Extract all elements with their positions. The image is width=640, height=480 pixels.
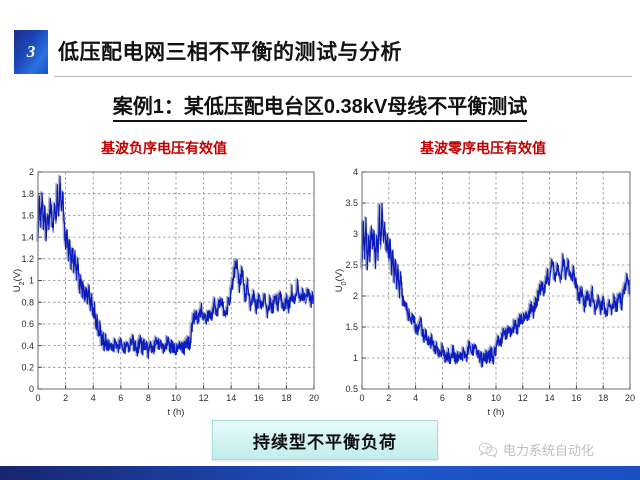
svg-text:8: 8 (467, 393, 472, 403)
svg-text:0: 0 (29, 384, 34, 394)
svg-text:1.8: 1.8 (21, 189, 34, 199)
svg-text:0.2: 0.2 (21, 363, 34, 373)
section-number-text: 3 (27, 42, 36, 62)
chart-title-left: 基波负序电压有效值 (8, 138, 320, 158)
svg-text:U2(V): U2(V) (12, 269, 26, 292)
section-number-badge: 3 (14, 30, 48, 74)
svg-text:0: 0 (359, 393, 364, 403)
svg-text:1.6: 1.6 (21, 211, 34, 221)
chart-negative-sequence: 基波负序电压有效值 0246810121416182000.20.40.60.8… (8, 138, 320, 429)
svg-text:2.5: 2.5 (345, 260, 358, 270)
svg-text:2: 2 (63, 393, 68, 403)
slide-subtitle-text: 案例1：某低压配电台区0.38kV母线不平衡测试 (113, 96, 528, 122)
svg-text:10: 10 (171, 393, 181, 403)
svg-text:1: 1 (29, 276, 34, 286)
svg-text:3.5: 3.5 (345, 198, 358, 208)
page-title: 低压配电网三相不平衡的测试与分析 (58, 36, 402, 66)
svg-text:0.5: 0.5 (345, 384, 358, 394)
svg-text:2: 2 (386, 393, 391, 403)
slide-subtitle: 案例1：某低压配电台区0.38kV母线不平衡测试 (0, 90, 640, 119)
svg-text:1: 1 (353, 353, 358, 363)
svg-text:3: 3 (353, 229, 358, 239)
svg-text:10: 10 (491, 393, 501, 403)
svg-text:2: 2 (29, 167, 34, 177)
watermark-label: 电力系统自动化 (503, 440, 594, 459)
conclusion-callout: 持续型不平衡负荷 (212, 420, 438, 460)
svg-text:1.4: 1.4 (21, 232, 34, 242)
conclusion-text: 持续型不平衡负荷 (253, 428, 397, 453)
svg-text:18: 18 (598, 393, 608, 403)
slide-root: 3 低压配电网三相不平衡的测试与分析 案例1：某低压配电台区0.38kV母线不平… (0, 0, 640, 480)
svg-text:U0(V): U0(V) (334, 269, 348, 292)
svg-text:16: 16 (571, 393, 581, 403)
svg-text:14: 14 (545, 393, 555, 403)
svg-text:2: 2 (353, 291, 358, 301)
chart-svg-right: 024681012141618200.511.522.533.54t (h)U0… (330, 164, 636, 429)
svg-text:14: 14 (226, 393, 236, 403)
chart-title-right: 基波零序电压有效值 (330, 138, 636, 158)
svg-text:1.5: 1.5 (345, 322, 358, 332)
svg-text:0.6: 0.6 (21, 319, 34, 329)
svg-text:1.2: 1.2 (21, 254, 34, 264)
svg-text:8: 8 (146, 393, 151, 403)
svg-text:0.4: 0.4 (21, 341, 34, 351)
svg-text:6: 6 (118, 393, 123, 403)
svg-text:6: 6 (440, 393, 445, 403)
svg-text:0: 0 (35, 393, 40, 403)
svg-text:12: 12 (518, 393, 528, 403)
header-divider (54, 76, 632, 77)
svg-text:4: 4 (91, 393, 96, 403)
svg-text:4: 4 (413, 393, 418, 403)
chart-canvas-right: 024681012141618200.511.522.533.54t (h)U0… (330, 164, 636, 429)
svg-text:18: 18 (281, 393, 291, 403)
footer-watermark: 电力系统自动化 (478, 440, 594, 459)
svg-text:t (h): t (h) (488, 407, 505, 418)
wechat-icon (478, 442, 498, 458)
svg-text:0.8: 0.8 (21, 297, 34, 307)
svg-text:t (h): t (h) (168, 407, 185, 418)
chart-zero-sequence: 基波零序电压有效值 024681012141618200.511.522.533… (330, 138, 636, 429)
chart-svg-left: 0246810121416182000.20.40.60.811.21.41.6… (8, 164, 320, 429)
svg-text:4: 4 (353, 167, 358, 177)
slide-header: 3 低压配电网三相不平衡的测试与分析 (0, 0, 640, 78)
svg-text:20: 20 (625, 393, 635, 403)
svg-text:12: 12 (199, 393, 209, 403)
chart-canvas-left: 0246810121416182000.20.40.60.811.21.41.6… (8, 164, 320, 429)
svg-text:20: 20 (309, 393, 319, 403)
slide-bottom-bar (0, 466, 640, 480)
svg-text:16: 16 (254, 393, 264, 403)
